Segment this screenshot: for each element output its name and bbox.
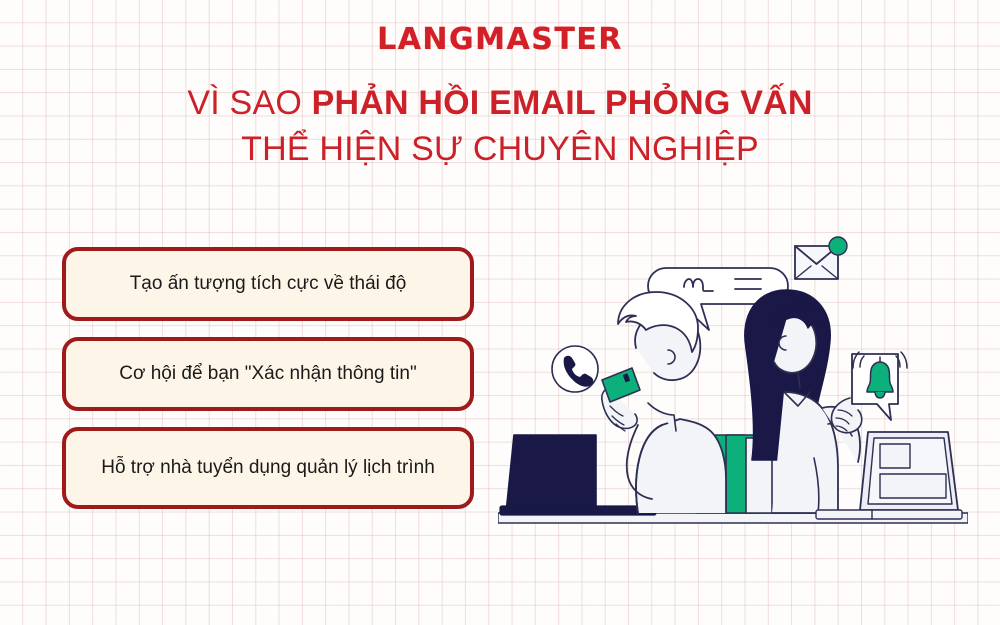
- title-line-1-normal: VÌ SAO: [187, 84, 311, 122]
- benefit-box-1: Tạo ấn tượng tích cực về thái độ: [62, 247, 474, 321]
- phone-call-icon: [552, 346, 598, 392]
- illustration: [498, 228, 968, 533]
- notification-dot: [829, 237, 847, 255]
- brand-logo: LANGMASTER: [0, 22, 1000, 57]
- title-line-2: THỂ HIỆN SỰ CHUYÊN NGHIỆP: [0, 128, 1000, 171]
- benefit-box-list: Tạo ấn tượng tích cực về thái độ Cơ hội …: [62, 247, 474, 525]
- envelope-icon: [795, 237, 847, 279]
- bell-notification-card: [852, 352, 907, 420]
- benefit-box-3: Hỗ trợ nhà tuyển dụng quản lý lịch trình: [62, 427, 474, 509]
- page-title: VÌ SAO PHẢN HỒI EMAIL PHỎNG VẤN THỂ HIỆN…: [0, 82, 1000, 171]
- title-line-1-bold: PHẢN HỒI EMAIL PHỎNG VẤN: [312, 84, 813, 122]
- title-line-1: VÌ SAO PHẢN HỒI EMAIL PHỎNG VẤN: [0, 82, 1000, 125]
- laptop-closed-icon: [500, 435, 656, 515]
- smartphone-icon: [602, 368, 640, 402]
- infographic-page: LANGMASTER VÌ SAO PHẢN HỒI EMAIL PHỎNG V…: [0, 0, 1000, 625]
- benefit-box-2: Cơ hội để bạn "Xác nhận thông tin": [62, 337, 474, 411]
- benefit-box-3-label: Hỗ trợ nhà tuyển dụng quản lý lịch trình: [101, 455, 435, 481]
- benefit-box-1-label: Tạo ấn tượng tích cực về thái độ: [130, 271, 407, 297]
- benefit-box-2-label: Cơ hội để bạn "Xác nhận thông tin": [119, 361, 416, 387]
